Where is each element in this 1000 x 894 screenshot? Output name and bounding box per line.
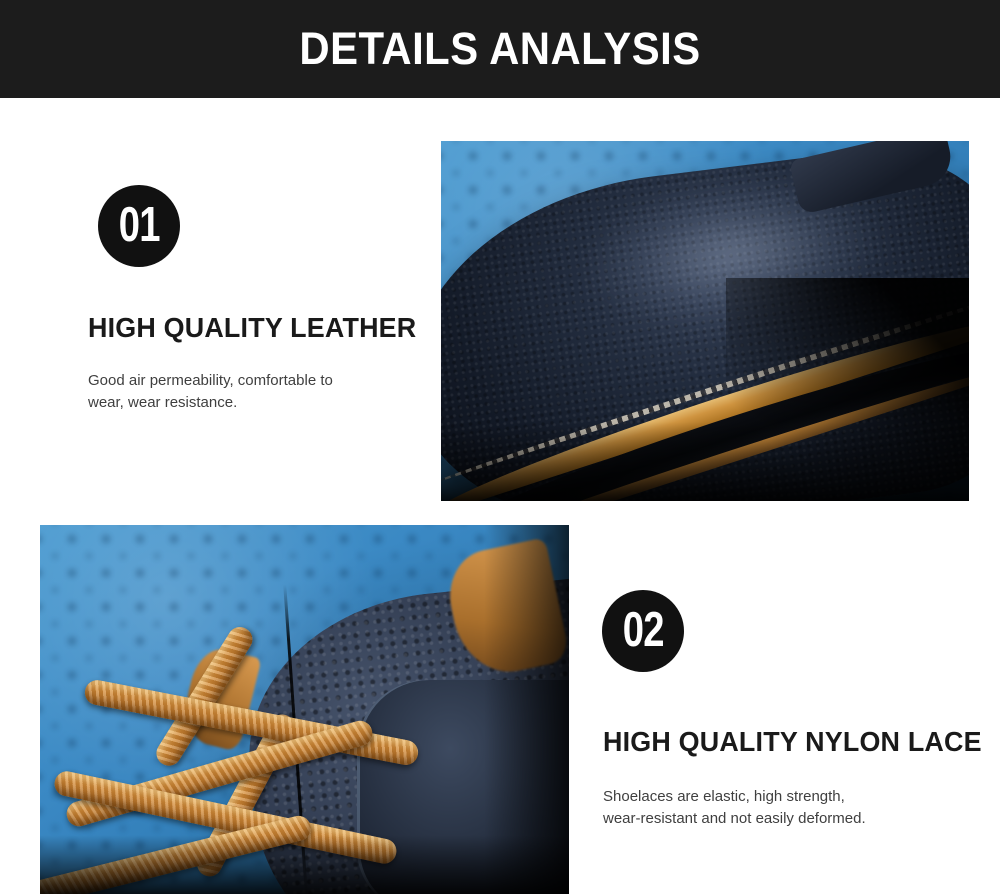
feature-description-01: Good air permeability, comfortable to we…: [88, 370, 408, 414]
feature-badge-02-label: 02: [623, 606, 664, 655]
feature-image-leather: [441, 141, 969, 501]
photo-shadow-bottom: [40, 835, 569, 894]
feature-title-02: HIGH QUALITY NYLON LACE: [603, 726, 982, 758]
feature-title-01: HIGH QUALITY LEATHER: [88, 312, 416, 344]
page-title: DETAILS ANALYSIS: [35, 0, 965, 98]
feature-description-02: Shoelaces are elastic, high strength, we…: [603, 786, 933, 830]
photo-shadow-bottom: [441, 422, 969, 501]
feature-image-lace: [40, 525, 569, 894]
feature-badge-01-label: 01: [119, 201, 160, 250]
feature-badge-02: 02: [602, 590, 684, 672]
feature-badge-01: 01: [98, 185, 180, 267]
